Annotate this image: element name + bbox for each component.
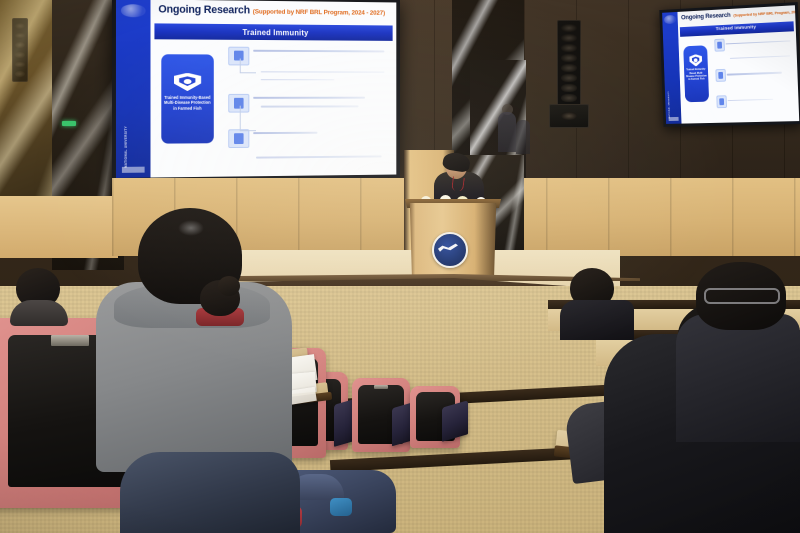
slide-sidebar-label: NATIONAL UNIVERSITY — [668, 91, 671, 119]
slide-text-line — [261, 71, 385, 73]
audience-torso — [676, 314, 800, 442]
slide-banner: Trained Immunity — [155, 24, 393, 42]
slide-text-line — [256, 156, 382, 158]
slide-title-subtitle: (Supported by NRF BRL Program, 2024 - 20… — [253, 9, 385, 17]
slide-sidebar: NATIONAL UNIVERSITY — [116, 0, 151, 178]
main-projection-screen-frame: NATIONAL UNIVERSITY Ongoing Research(Sup… — [112, 0, 400, 181]
slide-title: Ongoing Research — [681, 12, 731, 22]
slide-connector — [240, 59, 256, 74]
main-projection-screen: NATIONAL UNIVERSITY Ongoing Research(Sup… — [116, 0, 396, 178]
slide-connector — [240, 106, 256, 132]
slide-banner-label: Trained Immunity — [716, 26, 757, 33]
slide-text-line — [253, 97, 365, 99]
slide-text-line — [730, 55, 790, 59]
university-logo-icon — [664, 15, 675, 23]
slide-sidebar-mark — [122, 167, 144, 173]
slide-body: Ongoing Research(Supported by NRF BRL Pr… — [151, 0, 397, 178]
shield-card: Trained Immunity-Based Multi-Disease Pro… — [683, 45, 709, 102]
audience-member — [196, 276, 244, 324]
slide-title-subtitle: (Supported by NRF BRL Program, 2024 - 20… — [733, 9, 799, 18]
shield-card-label: Trained Immunity-Based Multi-Disease Pro… — [684, 68, 709, 82]
slide-banner-label: Trained Immunity — [243, 28, 309, 37]
side-slide: NATIONAL UNIVERSITY Ongoing Research(Sup… — [662, 5, 799, 124]
slide-banner: Trained Immunity — [680, 21, 794, 37]
audience-member-glasses — [676, 262, 800, 442]
audience-member-hoodie — [96, 208, 292, 468]
slide-text-line — [728, 99, 773, 102]
background-person — [516, 120, 530, 154]
audience-member — [10, 268, 68, 320]
shield-icon — [689, 54, 702, 67]
chart-icon — [229, 129, 250, 148]
audience-hair-highlight — [178, 220, 204, 236]
audience-torso — [10, 300, 68, 326]
slide-title-row: Ongoing Research(Supported by NRF BRL Pr… — [681, 8, 799, 22]
slide-sidebar-mark — [669, 117, 679, 121]
university-logo-icon — [121, 4, 146, 17]
slide-title: Ongoing Research — [158, 4, 250, 17]
slide-text-line — [253, 50, 384, 52]
slide-text-line — [261, 106, 358, 108]
slide-text-line — [253, 132, 317, 134]
background-person — [498, 112, 516, 152]
shield-icon — [174, 73, 201, 91]
glasses-icon — [704, 288, 780, 304]
slide-text-line — [727, 72, 782, 76]
backpack-accent — [330, 498, 352, 516]
line-array-speaker-left — [12, 18, 28, 82]
foreground-jacket — [120, 452, 300, 533]
subwoofer-speaker — [549, 104, 589, 128]
seat-number-badge — [374, 385, 388, 389]
audience-hair-bun — [218, 276, 240, 296]
seat-number-badge — [51, 335, 89, 346]
document-icon — [714, 39, 725, 52]
slide-body: Ongoing Research(Supported by NRF BRL Pr… — [677, 5, 799, 123]
side-monitor-frame: NATIONAL UNIVERSITY Ongoing Research(Sup… — [659, 2, 800, 127]
shield-card-label: Trained Immunity-Based Multi-Disease Pro… — [161, 95, 214, 111]
slide-text-line — [261, 79, 334, 80]
cells-icon — [715, 69, 726, 82]
auditorium-photo-scene: NATIONAL UNIVERSITY Ongoing Research(Sup… — [0, 0, 800, 533]
exit-sign — [62, 121, 76, 126]
slide-title-row: Ongoing Research(Supported by NRF BRL Pr… — [158, 4, 385, 18]
main-slide: NATIONAL UNIVERSITY Ongoing Research(Sup… — [116, 0, 396, 178]
shield-card: Trained Immunity-Based Multi-Disease Pro… — [161, 55, 214, 144]
side-monitor-screen: NATIONAL UNIVERSITY Ongoing Research(Sup… — [662, 5, 799, 124]
chart-icon — [716, 95, 727, 108]
slide-text-line — [726, 40, 790, 45]
line-array-speaker-main — [557, 20, 581, 106]
